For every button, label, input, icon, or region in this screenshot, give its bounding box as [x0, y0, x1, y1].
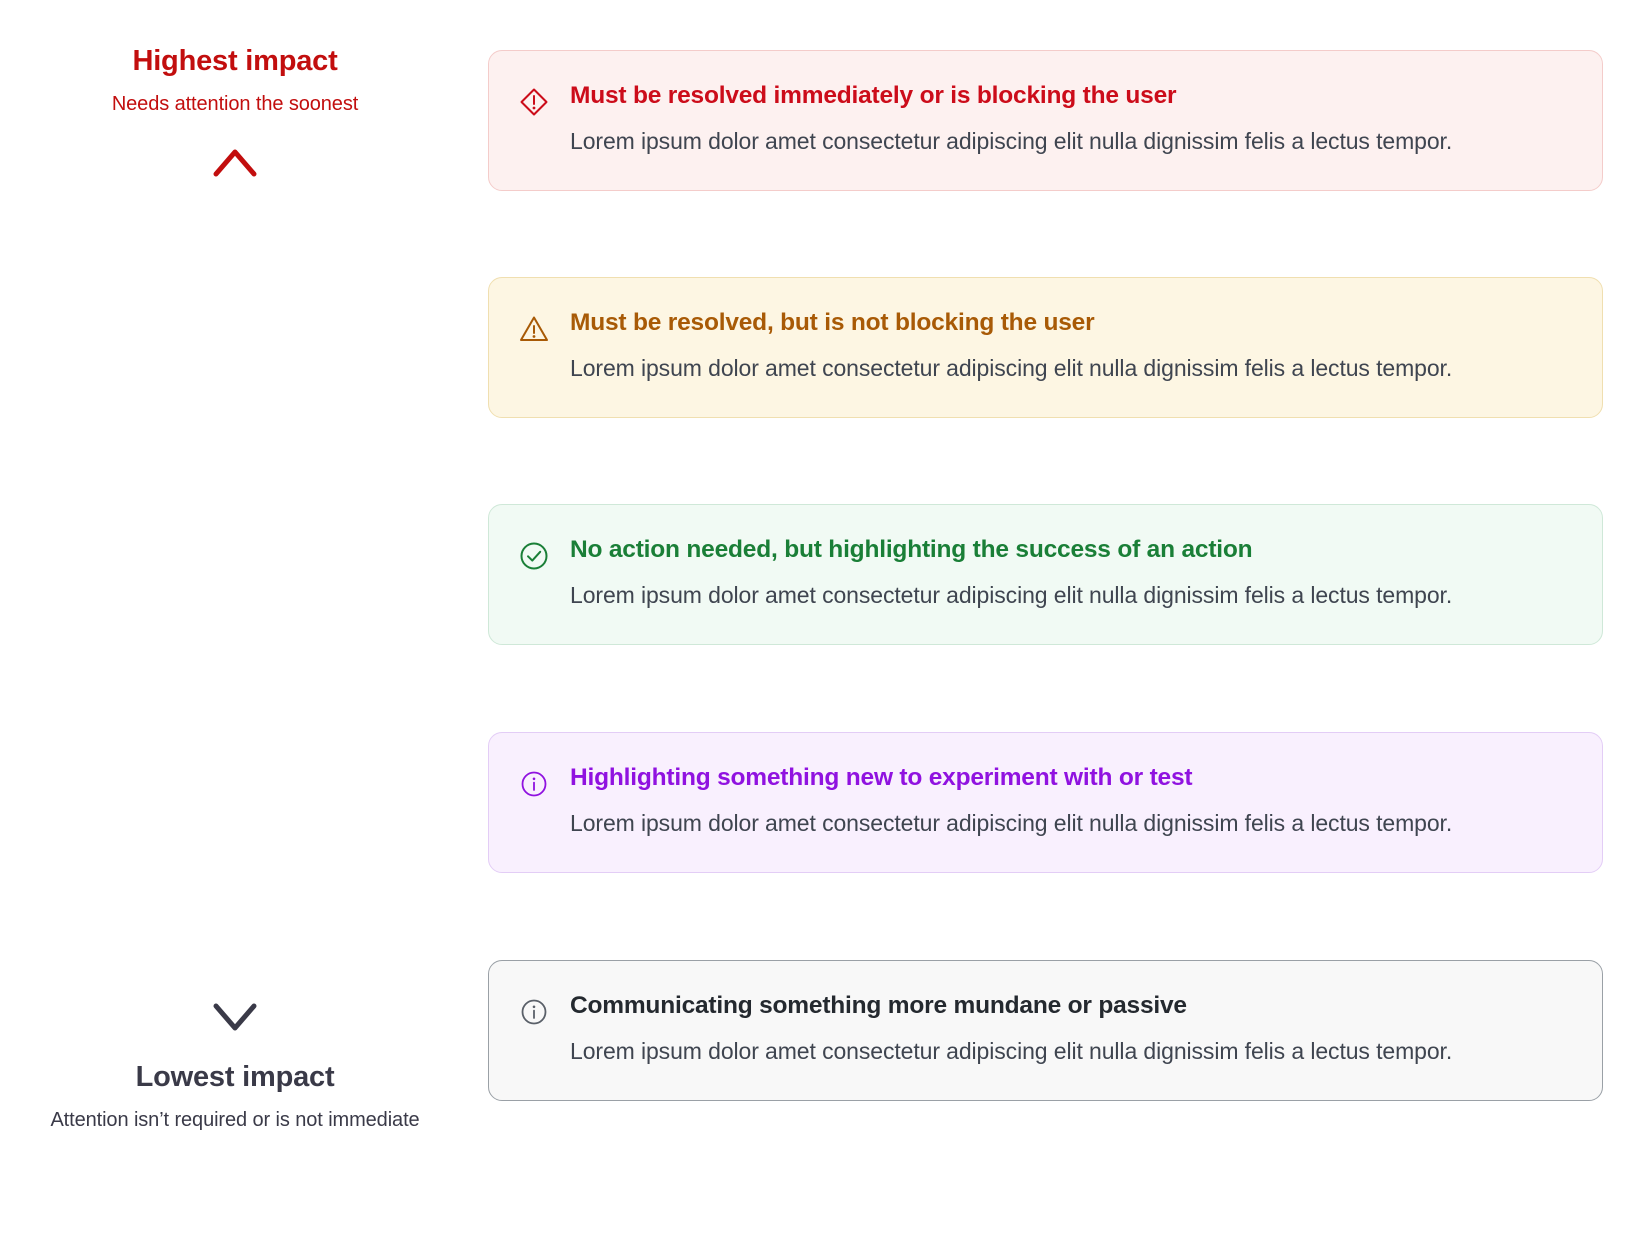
- triangle-warning-icon: [519, 314, 549, 344]
- diamond-exclamation-icon: [519, 87, 549, 117]
- callout-card-warning: Must be resolved, but is not blocking th…: [488, 277, 1603, 418]
- callout-title: Communicating something more mundane or …: [570, 991, 1568, 1022]
- lowest-impact-group: Lowest impact Attention isn’t required o…: [0, 1060, 470, 1132]
- callout-title: Must be resolved immediately or is block…: [570, 81, 1568, 112]
- callout-title: Highlighting something new to experiment…: [570, 763, 1568, 794]
- circle-check-icon: [519, 541, 549, 571]
- callout-card-neutral: Communicating something more mundane or …: [488, 960, 1603, 1101]
- callout-description: Lorem ipsum dolor amet consectetur adipi…: [570, 122, 1510, 160]
- impact-gradient-arrow: [0, 140, 470, 1040]
- callout-description: Lorem ipsum dolor amet consectetur adipi…: [570, 804, 1510, 842]
- callout-description: Lorem ipsum dolor amet consectetur adipi…: [570, 576, 1510, 614]
- lowest-impact-subtitle: Attention isn’t required or is not immed…: [0, 1109, 470, 1132]
- callout-title: Must be resolved, but is not blocking th…: [570, 308, 1568, 339]
- highest-impact-group: Highest impact Needs attention the soone…: [0, 44, 470, 116]
- circle-info-icon: [519, 769, 549, 799]
- callout-description: Lorem ipsum dolor amet consectetur adipi…: [570, 349, 1510, 387]
- callout-card-critical: Must be resolved immediately or is block…: [488, 50, 1603, 191]
- circle-info-icon: [519, 997, 549, 1027]
- highest-impact-subtitle: Needs attention the soonest: [0, 93, 470, 116]
- callout-card-new: Highlighting something new to experiment…: [488, 732, 1603, 873]
- impact-scale-page: Highest impact Needs attention the soone…: [0, 0, 1652, 1248]
- callout-description: Lorem ipsum dolor amet consectetur adipi…: [570, 1032, 1510, 1070]
- lowest-impact-title: Lowest impact: [0, 1060, 470, 1095]
- callout-title: No action needed, but highlighting the s…: [570, 535, 1568, 566]
- impact-scale-column: Highest impact Needs attention the soone…: [0, 0, 470, 1248]
- callout-card-success: No action needed, but highlighting the s…: [488, 504, 1603, 645]
- highest-impact-title: Highest impact: [0, 44, 470, 79]
